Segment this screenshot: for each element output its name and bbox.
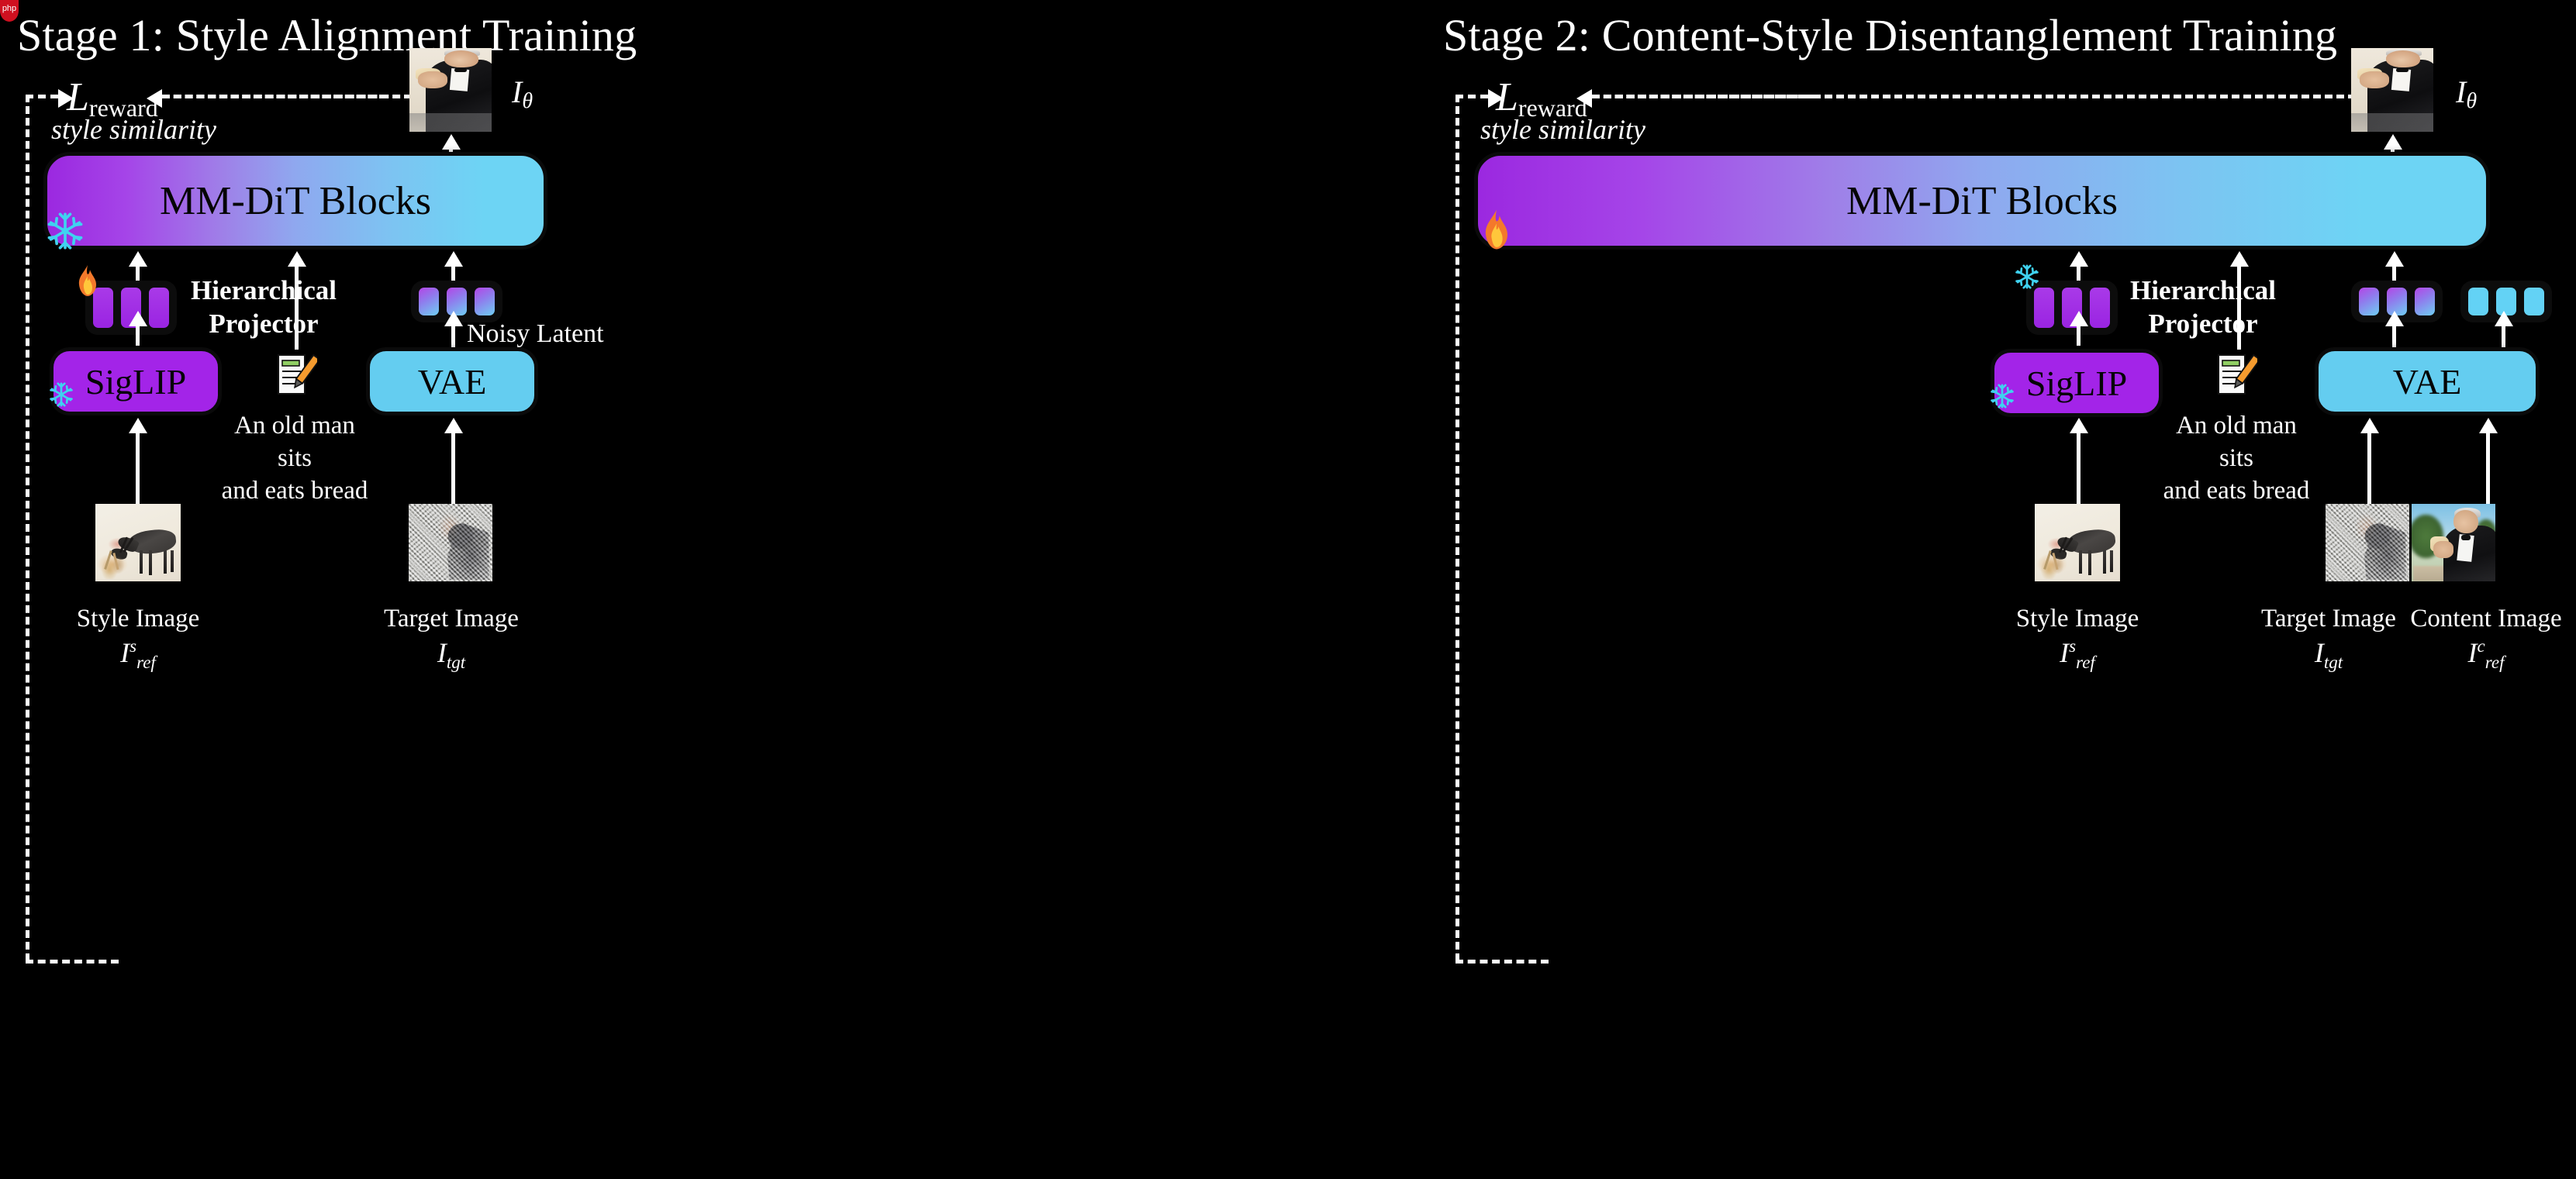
prompt-line-2: and eats bread [222,477,368,505]
stage-1-siglip-label: SigLIP [85,361,186,402]
symbol-sub: tgt [447,653,465,672]
symbol-sub: ref [2076,653,2095,672]
stage-2-target-image-caption: Target Image Itgt [2261,605,2396,673]
antelope-leg-shape [2103,550,2106,574]
stage-2-output-image-thumb [2351,48,2433,132]
projector-label-line-1: Hierarchical [2130,275,2276,305]
stage-1-arrow-target-image-to-vae [451,431,455,505]
stage-2-content-image-caption: Content Image Icref [2410,605,2561,673]
snowflake-icon [1989,383,2015,409]
stage-1-style-image-thumb [95,504,181,581]
stage-1-feedback-horizontal-line [162,95,412,98]
stage-1-arrow-siglip-to-projector [136,324,140,346]
latent-token [2359,288,2379,315]
prompt-line-1: An old man sits [234,412,355,472]
prompt-line-2: and eats bread [2163,477,2310,505]
stage-1-arrow-style-image-to-siglip [136,431,140,505]
symbol-letter: I [120,637,129,668]
snowflake-icon [2014,264,2040,290]
projector-token [2090,288,2110,328]
output-lower-shade [2351,113,2433,132]
caption-symbol: Isref [2016,636,2139,673]
antelope-leg-shape [2079,550,2082,574]
caption-symbol: Itgt [384,636,519,673]
stage-2-output-symbol: Iθ [2456,74,2477,114]
stage-2-arrow-style-image-to-siglip [2077,431,2080,505]
stage-1-mmdit-label: MM-DiT Blocks [160,178,431,224]
stage-2-siglip-block[interactable]: SigLIP [1991,349,2163,417]
stage-2-style-image-caption: Style Image Isref [2016,605,2139,673]
caption-symbol: Itgt [2261,636,2396,673]
stage-1-siglip-block[interactable]: SigLIP [50,347,222,415]
stage-2-arrow-target-image-to-vae [2367,431,2371,505]
caption-text: Style Image [2016,605,2139,633]
stage-1-feedback-vertical-line [26,95,29,961]
projector-token [2034,288,2054,328]
output-symbol-letter: I [512,74,522,109]
stage-1-output-symbol: Iθ [512,74,533,114]
output-head-shape [444,50,479,67]
flame-icon [74,264,101,298]
symbol-sub: ref [2485,653,2505,672]
stage-1-output-image-thumb [409,48,492,132]
stage-1-arrow-latent-to-mmdit [451,264,455,281]
stage-1-arrow-projector-to-mmdit [136,264,140,281]
stage-2-content-image-thumb [2412,504,2495,581]
memo-pencil-icon [2215,353,2257,401]
projector-label-line-2: Projector [2148,309,2257,339]
output-hand-shape [418,71,447,88]
caption-symbol: Icref [2410,636,2561,673]
symbol-letter: I [2060,637,2069,668]
projector-label-line-2: Projector [209,309,318,339]
projector-token [149,288,169,328]
stage-1-panel: Stage 1: Style Alignment Training Lrewar… [0,0,1288,1179]
prompt-line-1: An old man sits [2176,412,2297,472]
stage-2-panel: Stage 2: Content-Style Disentanglement T… [1288,0,2576,1179]
stage-1-style-image-caption: Style Image Isref [77,605,200,673]
content-token [2524,288,2544,315]
symbol-sup: c [2478,636,2485,656]
content-hand-shape [2433,541,2453,558]
stage-1-target-image-caption: Target Image Itgt [384,605,519,673]
stage-1-vae-label: VAE [418,361,487,402]
stage-2-feedback-arrow-to-loss [1455,95,1488,98]
memo-pencil-icon [275,353,317,401]
noise-grain-overlay [409,504,492,581]
stage-2-target-image-thumb [2326,504,2409,581]
noise-grain-overlay [2326,504,2409,581]
stage-2-feedback-horizontal-line [1592,95,2367,98]
content-bowtie-shape [2461,535,2471,540]
diagram-canvas: php Stage 1: Style Alignment Training Lr… [0,0,2576,1179]
content-head-shape [2453,510,2478,533]
caption-text: Target Image [384,605,519,633]
caption-text: Content Image [2410,605,2561,633]
stage-1-vae-block[interactable]: VAE [366,347,538,415]
stage-2-style-image-thumb [2035,504,2120,581]
stage-2-title: Stage 2: Content-Style Disentanglement T… [1443,9,2337,61]
php-watermark-badge: php [0,0,19,22]
stage-2-arrow-latent-to-mmdit [2392,264,2396,281]
stage-2-mmdit-block[interactable]: MM-DiT Blocks [1474,152,2490,250]
stage-2-vae-block[interactable]: VAE [2315,347,2540,415]
park-path-shape [2413,566,2447,581]
grass-shape [98,548,126,579]
output-symbol-letter: I [2456,74,2466,109]
stage-2-prompt-text: An old man sits and eats bread [2163,409,2310,508]
latent-token [419,288,439,315]
stage-1-projector-label: Hierarchical Projector [182,274,345,340]
stage-1-title: Stage 1: Style Alignment Training [17,9,637,61]
snowflake-icon [45,211,85,251]
stage-2-feedback-vertical-line [1455,95,1459,961]
output-hand-shape [2360,71,2389,88]
caption-symbol: Isref [77,636,200,673]
antelope-leg-shape [2088,550,2091,575]
projector-label-line-1: Hierarchical [191,275,337,305]
stage-1-style-similarity-note: style similarity [51,113,216,146]
stage-2-style-similarity-note: style similarity [1480,113,1645,146]
latent-token [2415,288,2435,315]
stage-1-feedback-arrow-to-loss [26,95,58,98]
content-token [2468,288,2488,315]
antelope-leg-shape [171,550,174,572]
stage-2-projector-label: Hierarchical Projector [2122,274,2284,340]
antelope-leg-shape [2110,550,2113,572]
stage-1-prompt-text: An old man sits and eats bread [221,409,368,508]
antelope-leg-shape [164,550,167,574]
stage-2-siglip-label: SigLIP [2026,363,2127,404]
output-lower-shade [409,113,492,132]
output-head-shape [2386,50,2421,67]
stage-1-feedback-bottom-line [26,960,119,964]
grass-shape [2037,548,2066,579]
stage-1-noisy-latent-label: Noisy Latent [467,319,604,349]
symbol-sub: tgt [2324,653,2343,672]
stage-2-mmdit-label: MM-DiT Blocks [1846,178,2118,224]
antelope-leg-shape [140,550,143,574]
stage-2-arrow-siglip-to-projector [2077,324,2080,346]
symbol-letter: I [437,637,447,668]
symbol-letter: I [2315,637,2324,668]
latent-token [475,288,495,315]
snowflake-icon [48,381,74,408]
flame-icon [1479,208,1514,251]
stage-2-vae-label: VAE [2393,361,2462,402]
stage-2-arrow-projector-to-mmdit [2077,264,2080,281]
output-symbol-subscript: θ [522,89,533,113]
output-symbol-subscript: θ [2466,89,2477,113]
stage-1-target-image-thumb [409,504,492,581]
antelope-leg-shape [149,550,152,575]
output-bowtie-shape [2396,68,2409,72]
caption-text: Style Image [77,605,200,633]
stage-1-mmdit-block[interactable]: MM-DiT Blocks [43,152,547,250]
caption-text: Target Image [2261,605,2396,633]
stage-2-feedback-bottom-line [1455,960,1549,964]
stage-2-arrow-content-image-to-vae [2486,431,2490,505]
symbol-letter: I [2468,637,2478,668]
output-bowtie-shape [454,68,467,72]
symbol-sub: ref [136,653,156,672]
